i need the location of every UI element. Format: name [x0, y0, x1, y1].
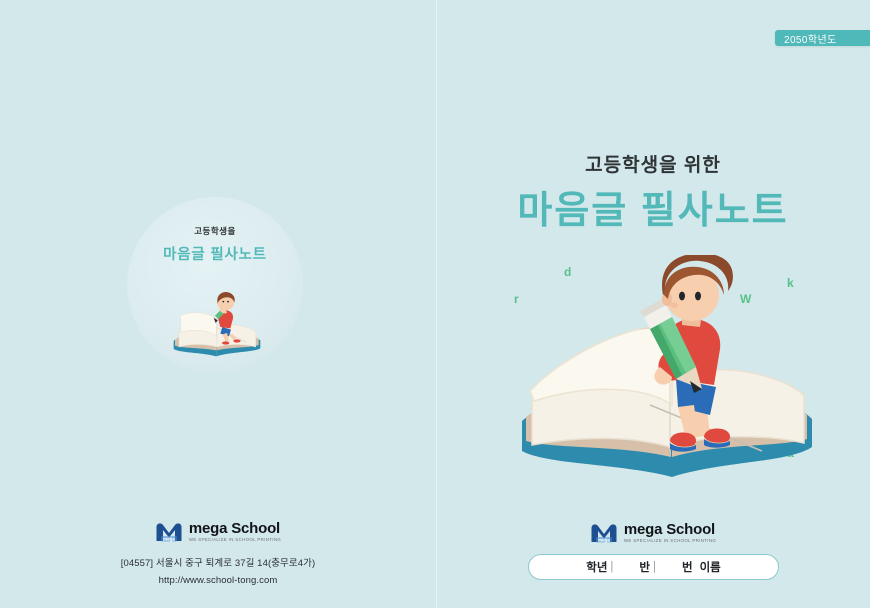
separator-2: |: [653, 561, 656, 573]
class-label: 반: [639, 559, 650, 575]
logo-brand-name: mega School: [624, 522, 716, 537]
back-cover-badge: 고등학생을 마음글 필사노트: [127, 197, 303, 373]
name-field-labels: 학년 | 반 | 번 이름: [586, 559, 721, 575]
front-illustration-boy-writing-on-open-book: [500, 255, 840, 495]
logo-tagline: WE SPECIALIZE IN SCHOOL PRINTING: [189, 538, 281, 542]
front-subtitle: 고등학생을 위한: [436, 155, 870, 178]
badge-subtitle: 고등학생을: [127, 225, 303, 237]
svg-text:mega: mega: [598, 538, 610, 543]
front-title: 마음글 필사노트: [436, 191, 870, 233]
name-label: 이름: [700, 559, 721, 575]
mega-school-logo: mega mega School WE SPECIALIZE IN SCHOOL…: [436, 522, 870, 544]
cover-spread-page: 2050학년도 고등학생을 마음글 필사노트: [0, 0, 870, 608]
mega-school-logo-text: mega School WE SPECIALIZE IN SCHOOL PRIN…: [624, 522, 716, 543]
separator-1: |: [610, 561, 613, 573]
back-cover-address-block: [04557] 서울시 중구 퇴계로 37길 14(충무로4가) http://…: [0, 556, 436, 589]
mega-school-logo: mega mega School WE SPECIALIZE IN SCHOOL…: [0, 521, 436, 543]
back-cover-logo: mega mega School WE SPECIALIZE IN SCHOOL…: [0, 521, 436, 543]
badge-title: 마음글 필사노트: [127, 243, 303, 264]
mega-school-logo-text: mega School WE SPECIALIZE IN SCHOOL PRIN…: [189, 521, 281, 542]
logo-tagline: WE SPECIALIZE IN SCHOOL PRINTING: [624, 539, 716, 543]
grade-label: 학년: [586, 559, 607, 575]
logo-brand-name: mega School: [189, 521, 281, 536]
svg-text:mega: mega: [163, 537, 175, 542]
badge-illustration-boy-writing-on-open-book: [147, 285, 287, 365]
badge-title-block: 고등학생을 마음글 필사노트: [127, 225, 303, 264]
address-line-1: [04557] 서울시 중구 퇴계로 37길 14(충무로4가): [0, 556, 436, 573]
mega-school-logo-mark-icon: mega: [590, 522, 618, 544]
website-url: http://www.school-tong.com: [0, 573, 436, 590]
student-name-field[interactable]: 학년 | 반 | 번 이름: [528, 554, 779, 580]
back-cover: 고등학생을 마음글 필사노트: [0, 0, 436, 608]
mega-school-logo-mark-icon: mega: [155, 521, 183, 543]
front-title-block: 고등학생을 위한 마음글 필사노트: [436, 155, 870, 233]
number-label: 번: [682, 559, 693, 575]
front-cover-logo: mega mega School WE SPECIALIZE IN SCHOOL…: [436, 522, 870, 544]
